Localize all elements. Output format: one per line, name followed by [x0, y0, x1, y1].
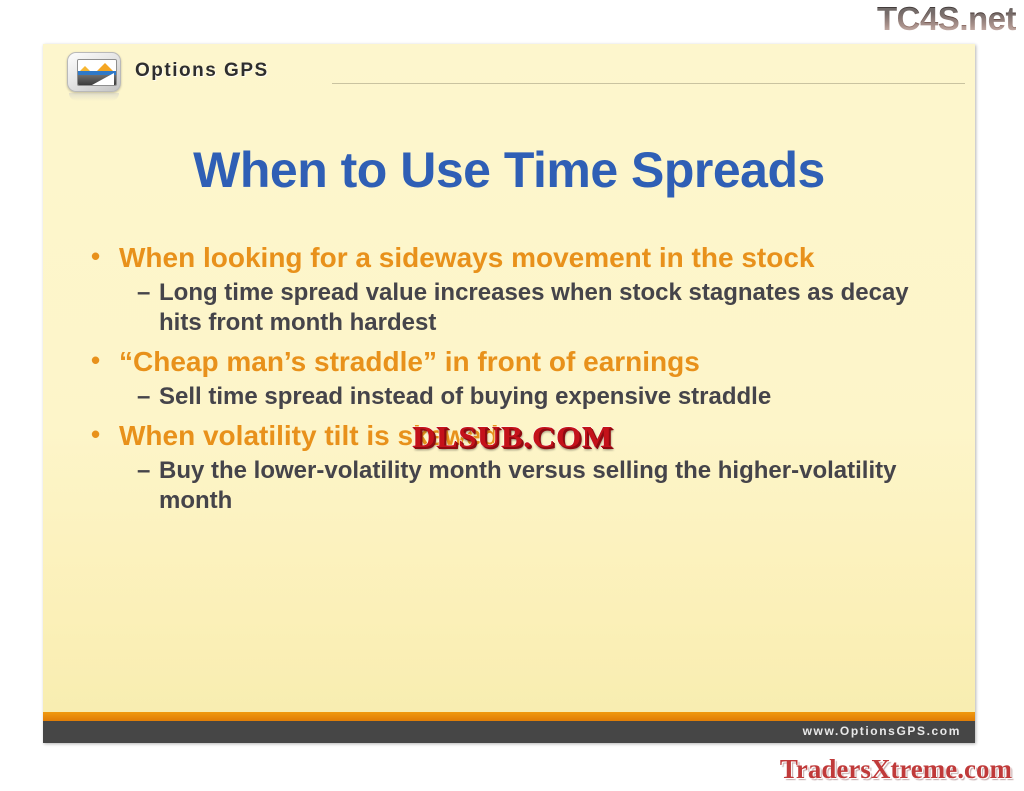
logo-wordmark: Options GPS [135, 60, 269, 82]
bullet-group-2: • “Cheap man’s straddle” in front of ear… [91, 344, 931, 412]
header-divider [332, 83, 965, 84]
presentation-slide: Options GPS When to Use Time Spreads • W… [43, 44, 975, 743]
bullet-item-1: • When looking for a sideways movement i… [91, 240, 931, 276]
bullet-text-1: When looking for a sideways movement in … [119, 240, 931, 276]
subbullet-item-1-1: – Long time spread value increases when … [91, 278, 931, 338]
gps-device-chart-icon [65, 52, 123, 98]
subbullet-text-1-1: Long time spread value increases when st… [159, 278, 931, 338]
subbullet-item-3-1: – Buy the lower-volatility month versus … [91, 456, 931, 516]
footer-url: www.OptionsGPS.com [803, 724, 961, 738]
subbullet-text-2-1: Sell time spread instead of buying expen… [159, 382, 931, 412]
dash-marker-icon: – [137, 278, 159, 308]
dlsub-watermark: DLSUB.COM [412, 419, 613, 455]
bullet-text-2: “Cheap man’s straddle” in front of earni… [119, 344, 931, 380]
bullet-list: • When looking for a sideways movement i… [91, 240, 931, 523]
site-brand-tc4s: TC4S.net [877, 2, 1016, 35]
subbullet-text-3-1: Buy the lower-volatility month versus se… [159, 456, 931, 516]
bullet-item-2: • “Cheap man’s straddle” in front of ear… [91, 344, 931, 380]
tradersxtreme-watermark: TradersXtreme.com [780, 754, 1012, 785]
footer-bar: www.OptionsGPS.com [43, 721, 975, 743]
slide-header: Options GPS [43, 44, 975, 100]
subbullet-item-2-1: – Sell time spread instead of buying exp… [91, 382, 931, 412]
footer-accent-bar [43, 712, 975, 721]
slide-title: When to Use Time Spreads [43, 141, 975, 199]
dash-marker-icon: – [137, 456, 159, 486]
bullet-group-1: • When looking for a sideways movement i… [91, 240, 931, 338]
bullet-marker-icon: • [91, 240, 119, 273]
bullet-marker-icon: • [91, 418, 119, 451]
bullet-marker-icon: • [91, 344, 119, 377]
dash-marker-icon: – [137, 382, 159, 412]
